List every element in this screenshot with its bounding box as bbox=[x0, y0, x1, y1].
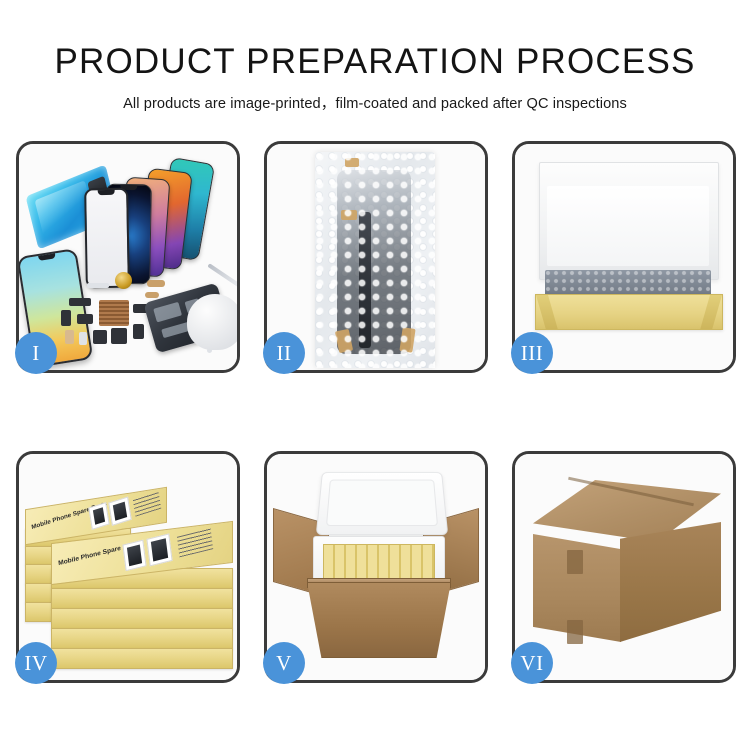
phone-notch bbox=[98, 190, 115, 195]
step-badge-4: IV bbox=[15, 642, 57, 684]
phone-notch bbox=[38, 253, 56, 261]
foam-sheet bbox=[547, 186, 709, 266]
wrapped-flex-strip bbox=[359, 212, 371, 348]
small-part bbox=[77, 314, 93, 324]
bubble-wrap-bag bbox=[315, 152, 435, 368]
carton-body bbox=[307, 582, 451, 658]
box-label-chip bbox=[122, 540, 146, 572]
header: PRODUCT PREPARATION PROCESS All products… bbox=[0, 0, 750, 113]
box-label-chip bbox=[88, 502, 109, 530]
scene-open-kraft-box bbox=[515, 144, 733, 370]
panel-carton-packing: V bbox=[264, 451, 488, 683]
scene-stack-of-yellow-boxes: Mobile Phone Spare Parts Mobile Phone Sp… bbox=[19, 454, 237, 680]
flex-cable-part bbox=[147, 280, 165, 287]
panel-sealed-carton-image bbox=[515, 454, 733, 680]
step-badge-1: I bbox=[15, 332, 57, 374]
tape-piece bbox=[345, 158, 359, 167]
panel-stacked-boxes-image: Mobile Phone Spare Parts Mobile Phone Sp… bbox=[19, 454, 237, 680]
small-part bbox=[61, 310, 71, 326]
wrapped-phone-part bbox=[337, 170, 411, 354]
stacked-box bbox=[51, 608, 233, 629]
panel-bubble-wrap: II bbox=[264, 141, 488, 373]
small-part bbox=[93, 330, 107, 344]
panel-carton-packing-image bbox=[267, 454, 485, 680]
scene-carton-with-foam-cooler bbox=[267, 454, 485, 680]
panel-sealed-carton: VI bbox=[512, 451, 736, 683]
panel-inner-box-image bbox=[515, 144, 733, 370]
panel-bubble-wrap-image bbox=[267, 144, 485, 370]
page-subtitle: All products are image-printed，film-coat… bbox=[0, 79, 750, 113]
panel-inner-box: III bbox=[512, 141, 736, 373]
panel-stacked-boxes: Mobile Phone Spare Parts Mobile Phone Sp… bbox=[16, 451, 240, 683]
scene-phone-screens-and-spare-parts bbox=[19, 144, 237, 370]
process-step-grid: I II bbox=[16, 141, 736, 683]
stacked-box bbox=[51, 628, 233, 649]
box-label-lines bbox=[177, 528, 213, 558]
scene-part-sealed-in-bubble-wrap-bag bbox=[267, 144, 485, 370]
page-title: PRODUCT PREPARATION PROCESS bbox=[0, 0, 750, 79]
carton-tape-mark bbox=[567, 620, 583, 644]
phone-screen-fan bbox=[85, 158, 235, 278]
small-part bbox=[133, 324, 144, 339]
step-badge-3: III bbox=[511, 332, 553, 374]
kraft-box-front bbox=[535, 294, 723, 330]
small-part bbox=[65, 330, 74, 344]
step-badge-6: VI bbox=[511, 642, 553, 684]
small-part bbox=[87, 283, 109, 288]
small-part bbox=[111, 328, 127, 344]
speaker-part bbox=[115, 272, 132, 289]
box-label-chip bbox=[146, 533, 172, 566]
small-part bbox=[69, 298, 91, 306]
stacked-box bbox=[51, 588, 233, 609]
small-part bbox=[79, 332, 87, 345]
foam-cooler-lid bbox=[316, 472, 448, 535]
stacked-box bbox=[51, 648, 233, 669]
box-label-lines bbox=[133, 491, 161, 516]
tape-piece bbox=[341, 210, 357, 220]
step-badge-2: II bbox=[263, 332, 305, 374]
logic-board-part bbox=[99, 300, 129, 326]
carton-right-face bbox=[620, 522, 721, 642]
box-label-chip bbox=[108, 497, 132, 526]
panel-products-image bbox=[19, 144, 237, 370]
panel-products: I bbox=[16, 141, 240, 373]
scene-sealed-brown-carton bbox=[515, 454, 733, 680]
flex-cable-part bbox=[145, 292, 159, 298]
box-stack: Mobile Phone Spare Parts Mobile Phone Sp… bbox=[25, 472, 237, 672]
step-badge-5: V bbox=[263, 642, 305, 684]
technician-hand bbox=[187, 294, 237, 350]
tape-piece bbox=[399, 327, 415, 353]
carton-tape-mark bbox=[567, 550, 583, 574]
